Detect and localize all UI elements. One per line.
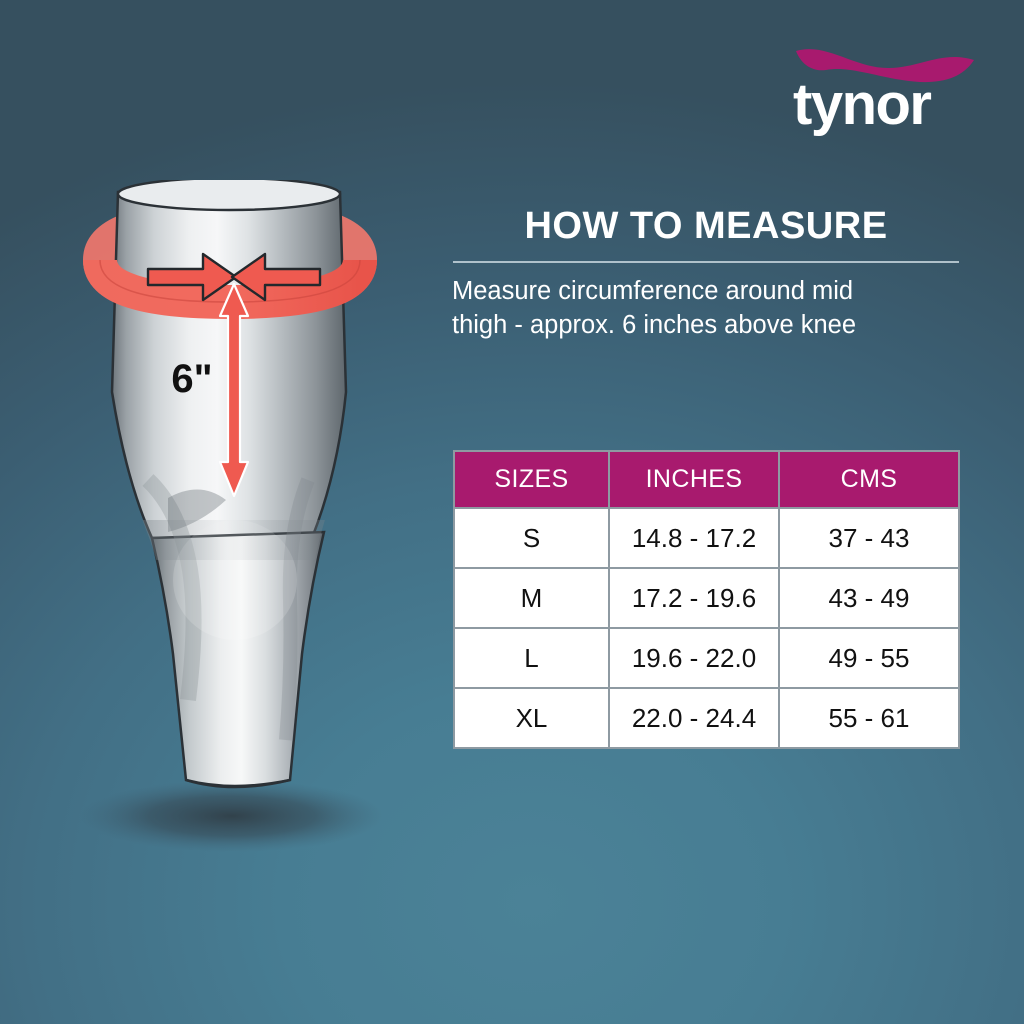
- cell-size: L: [454, 628, 609, 688]
- cell-cms: 37 - 43: [779, 508, 959, 568]
- cell-inches: 14.8 - 17.2: [609, 508, 779, 568]
- floor-shadow-ellipse: [80, 780, 384, 852]
- leg-illustration: 6": [40, 180, 440, 860]
- brand-name: tynor: [793, 76, 983, 134]
- distance-label: 6": [171, 357, 212, 401]
- column-header-sizes: SIZES: [454, 451, 609, 508]
- cell-size: M: [454, 568, 609, 628]
- size-chart-table: SIZES INCHES CMS S 14.8 - 17.2 37 - 43 M…: [453, 450, 960, 749]
- size-guide-page: tynor HOW TO MEASURE Measure circumferen…: [0, 0, 1024, 1024]
- cell-size: S: [454, 508, 609, 568]
- brand-logo: tynor: [786, 38, 986, 148]
- instructions-line-1: Measure circumference around mid: [452, 275, 962, 309]
- table-row: S 14.8 - 17.2 37 - 43: [454, 508, 959, 568]
- table-row: L 19.6 - 22.0 49 - 55: [454, 628, 959, 688]
- instructions-line-2: thigh - approx. 6 inches above knee: [452, 309, 962, 343]
- measure-instructions: Measure circumference around mid thigh -…: [452, 275, 962, 342]
- cell-size: XL: [454, 688, 609, 748]
- cell-inches: 22.0 - 24.4: [609, 688, 779, 748]
- cell-inches: 17.2 - 19.6: [609, 568, 779, 628]
- table-row: M 17.2 - 19.6 43 - 49: [454, 568, 959, 628]
- cell-cms: 49 - 55: [779, 628, 959, 688]
- table-row: XL 22.0 - 24.4 55 - 61: [454, 688, 959, 748]
- column-header-cms: CMS: [779, 451, 959, 508]
- page-title: HOW TO MEASURE: [453, 206, 959, 248]
- cell-cms: 55 - 61: [779, 688, 959, 748]
- cell-inches: 19.6 - 22.0: [609, 628, 779, 688]
- cell-cms: 43 - 49: [779, 568, 959, 628]
- title-divider: [453, 261, 959, 263]
- column-header-inches: INCHES: [609, 451, 779, 508]
- leg-diagram-svg: 6": [40, 180, 440, 860]
- table-header-row: SIZES INCHES CMS: [454, 451, 959, 508]
